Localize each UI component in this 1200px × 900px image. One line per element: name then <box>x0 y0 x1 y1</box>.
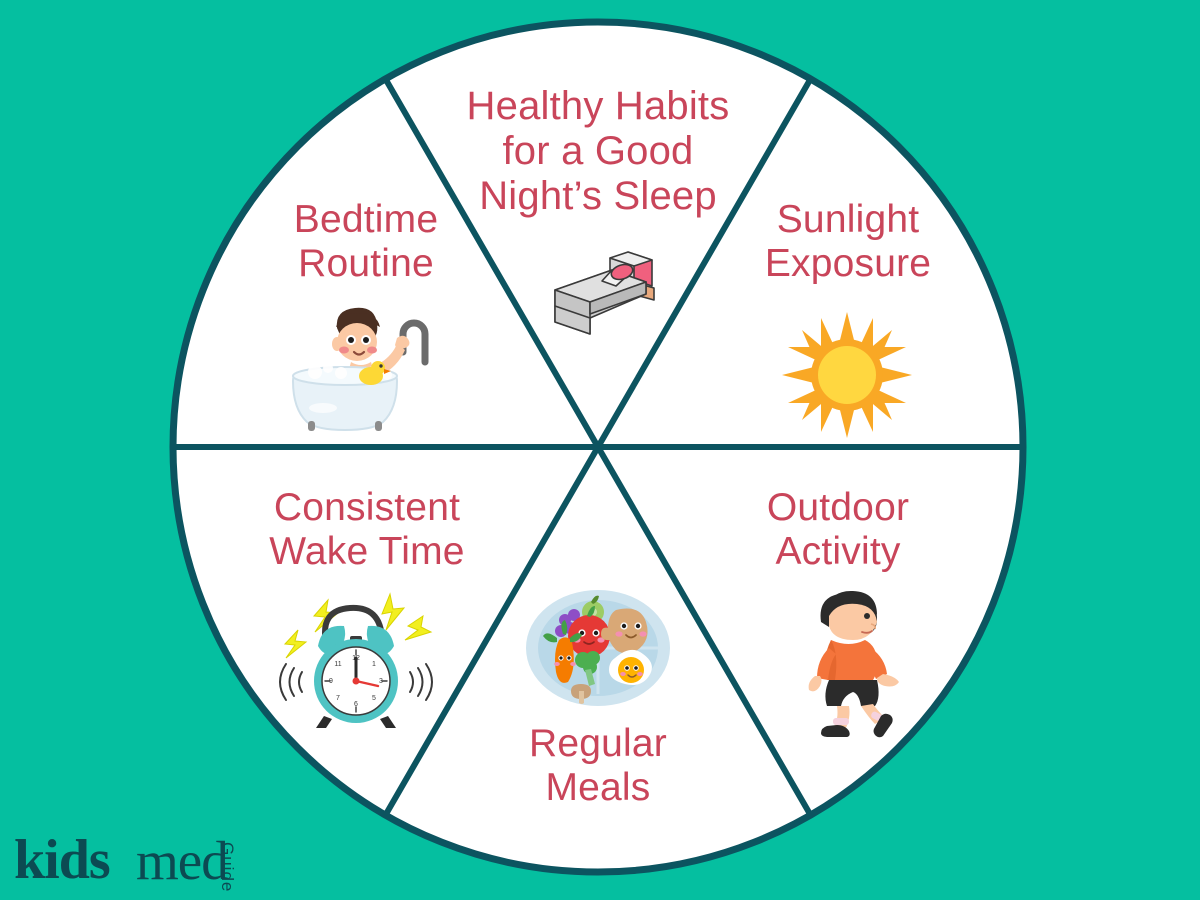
sector-label-consistent-wake-time: Consistent Wake Time <box>236 486 498 573</box>
svg-text:5: 5 <box>372 695 376 702</box>
svg-text:7: 7 <box>336 695 340 702</box>
sector-label-outdoor-activity: Outdoor Activity <box>718 486 958 573</box>
svg-text:1: 1 <box>372 661 376 668</box>
sector-label-sunlight-exposure: Sunlight Exposure <box>728 198 968 285</box>
sector-label-bedtime-routine: Bedtime Routine <box>246 198 486 285</box>
meal-plate-icon <box>521 588 676 708</box>
bed-icon <box>524 238 674 348</box>
alarm-clock-icon: 1213 567 911 <box>268 588 458 733</box>
sector-label-regular-meals: Regular Meals <box>478 722 718 809</box>
sun-icon <box>780 310 915 440</box>
bath-child-icon <box>275 300 450 445</box>
svg-text:11: 11 <box>334 661 341 668</box>
svg-text:9: 9 <box>329 678 333 685</box>
logo-guide-text: Guide <box>219 842 236 892</box>
walking-child-icon <box>795 588 915 738</box>
brand-logo[interactable]: kids med Guide <box>14 832 274 894</box>
infographic-canvas: Healthy Habits for a Good Night’s Sleep … <box>0 0 1200 900</box>
svg-text:3: 3 <box>379 678 383 685</box>
logo-med-text: med <box>136 833 228 888</box>
svg-text:6: 6 <box>354 701 358 708</box>
logo-kids-text: kids <box>14 832 110 888</box>
